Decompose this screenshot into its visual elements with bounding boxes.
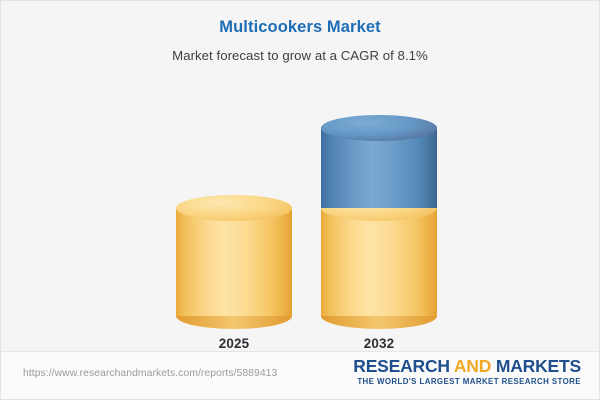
logo-word-markets: MARKETS: [496, 356, 581, 376]
page-title: Multicookers Market: [1, 18, 599, 37]
cylinder-top-ellipse: [176, 195, 292, 221]
logo-word-and: AND: [450, 356, 496, 376]
chart-header: Multicookers Market Market forecast to g…: [1, 1, 599, 63]
logo-tagline: THE WORLD'S LARGEST MARKET RESEARCH STOR…: [353, 377, 581, 386]
chart-card: Multicookers Market Market forecast to g…: [0, 0, 600, 400]
category-label-2032: 2032: [364, 336, 395, 351]
cylinder-segment-yellow: [176, 208, 292, 316]
logo-wordmark: RESEARCH AND MARKETS: [353, 357, 581, 375]
chart-subtitle: Market forecast to grow at a CAGR of 8.1…: [1, 48, 599, 63]
logo-word-research: RESEARCH: [353, 356, 450, 376]
cylinder-segment-yellow: [321, 208, 437, 316]
cylinder-body: [176, 208, 292, 316]
brand-logo[interactable]: RESEARCH AND MARKETS THE WORLD'S LARGEST…: [353, 357, 581, 386]
chart-plot-area: USD 1.47 Billion 2025 USD 2.53 Billion: [1, 86, 599, 351]
cylinder-2032: [321, 128, 437, 316]
chart-footer: https://www.researchandmarkets.com/repor…: [1, 352, 599, 399]
cylinder-2025: [176, 208, 292, 316]
cylinder-body: [321, 208, 437, 316]
source-url-link[interactable]: https://www.researchandmarkets.com/repor…: [23, 368, 277, 379]
category-label-2025: 2025: [219, 336, 250, 351]
cylinder-top-ellipse: [321, 115, 437, 141]
cylinder-segment-blue: [321, 128, 437, 208]
